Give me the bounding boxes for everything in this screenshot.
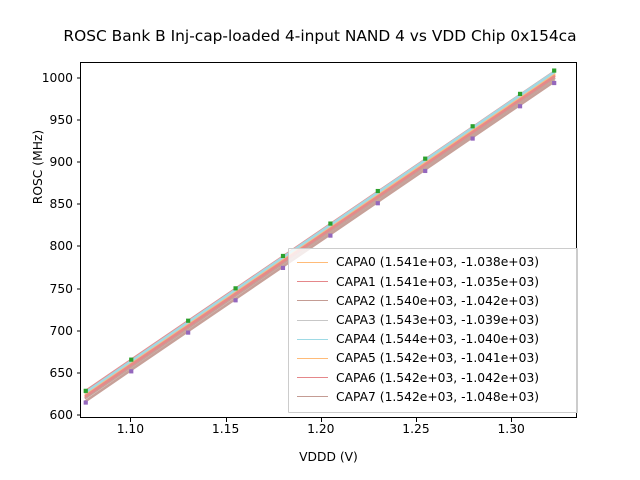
- scatter-marker: [376, 201, 380, 205]
- scatter-marker: [328, 234, 332, 238]
- scatter-marker: [518, 92, 522, 96]
- legend-label: CAPA2 (1.540e+03, -1.042e+03): [336, 295, 539, 307]
- ytick-label: 700: [29, 324, 73, 338]
- scatter-marker: [423, 169, 427, 173]
- scatter-marker: [328, 221, 332, 225]
- x-axis-label: VDDD (V): [80, 450, 577, 464]
- legend-item[interactable]: CAPA1 (1.541e+03, -1.035e+03): [295, 272, 571, 291]
- legend-label: CAPA6 (1.542e+03, -1.042e+03): [336, 372, 539, 384]
- xtick-label: 1.30: [476, 422, 546, 436]
- legend-item[interactable]: CAPA3 (1.543e+03, -1.039e+03): [295, 311, 571, 330]
- legend-color-swatch: [297, 339, 328, 340]
- scatter-marker: [186, 319, 190, 323]
- legend-color-swatch: [297, 396, 328, 397]
- scatter-marker: [281, 266, 285, 270]
- chart-title: ROSC Bank B Inj-cap-loaded 4-input NAND …: [0, 27, 640, 45]
- scatter-marker: [376, 189, 380, 193]
- legend-label: CAPA5 (1.542e+03, -1.041e+03): [336, 352, 539, 364]
- xtick-mark: [321, 418, 322, 422]
- scatter-marker: [552, 81, 556, 85]
- scatter-marker: [84, 389, 88, 393]
- legend-item[interactable]: CAPA7 (1.542e+03, -1.048e+03): [295, 387, 571, 406]
- legend-label: CAPA3 (1.543e+03, -1.039e+03): [336, 314, 539, 326]
- scatter-marker: [423, 157, 427, 161]
- scatter-marker: [471, 124, 475, 128]
- xtick-mark: [130, 418, 131, 422]
- legend-color-swatch: [297, 262, 328, 263]
- legend-label: CAPA1 (1.541e+03, -1.035e+03): [336, 276, 539, 288]
- scatter-marker: [552, 68, 556, 72]
- legend-label: CAPA0 (1.541e+03, -1.038e+03): [336, 256, 539, 268]
- xtick-mark: [511, 418, 512, 422]
- legend-color-swatch: [297, 300, 328, 301]
- legend-color-swatch: [297, 377, 328, 378]
- xtick-label: 1.25: [381, 422, 451, 436]
- xtick-label: 1.15: [191, 422, 261, 436]
- ytick-label: 650: [29, 366, 73, 380]
- legend-item[interactable]: CAPA4 (1.544e+03, -1.040e+03): [295, 330, 571, 349]
- figure-canvas: ROSC Bank B Inj-cap-loaded 4-input NAND …: [0, 0, 640, 480]
- legend-label: CAPA7 (1.542e+03, -1.048e+03): [336, 391, 539, 403]
- scatter-marker: [129, 369, 133, 373]
- legend-item[interactable]: CAPA5 (1.542e+03, -1.041e+03): [295, 349, 571, 368]
- scatter-marker: [281, 254, 285, 258]
- scatter-marker: [233, 286, 237, 290]
- legend-item[interactable]: CAPA0 (1.541e+03, -1.038e+03): [295, 253, 571, 272]
- xtick-label: 1.10: [95, 422, 165, 436]
- legend-item[interactable]: CAPA2 (1.540e+03, -1.042e+03): [295, 291, 571, 310]
- scatter-marker: [233, 298, 237, 302]
- legend-item[interactable]: CAPA6 (1.542e+03, -1.042e+03): [295, 368, 571, 387]
- scatter-marker: [471, 136, 475, 140]
- scatter-marker: [84, 400, 88, 404]
- legend: CAPA0 (1.541e+03, -1.038e+03) CAPA1 (1.5…: [288, 248, 578, 413]
- scatter-marker: [186, 331, 190, 335]
- legend-color-swatch: [297, 320, 328, 321]
- xtick-mark: [226, 418, 227, 422]
- ytick-label: 600: [29, 408, 73, 422]
- y-axis-label: ROSC (MHz): [31, 47, 45, 287]
- scatter-marker: [518, 104, 522, 108]
- scatter-marker: [129, 358, 133, 362]
- xtick-label: 1.20: [286, 422, 356, 436]
- legend-color-swatch: [297, 281, 328, 282]
- legend-color-swatch: [297, 358, 328, 359]
- legend-label: CAPA4 (1.544e+03, -1.040e+03): [336, 333, 539, 345]
- xtick-mark: [416, 418, 417, 422]
